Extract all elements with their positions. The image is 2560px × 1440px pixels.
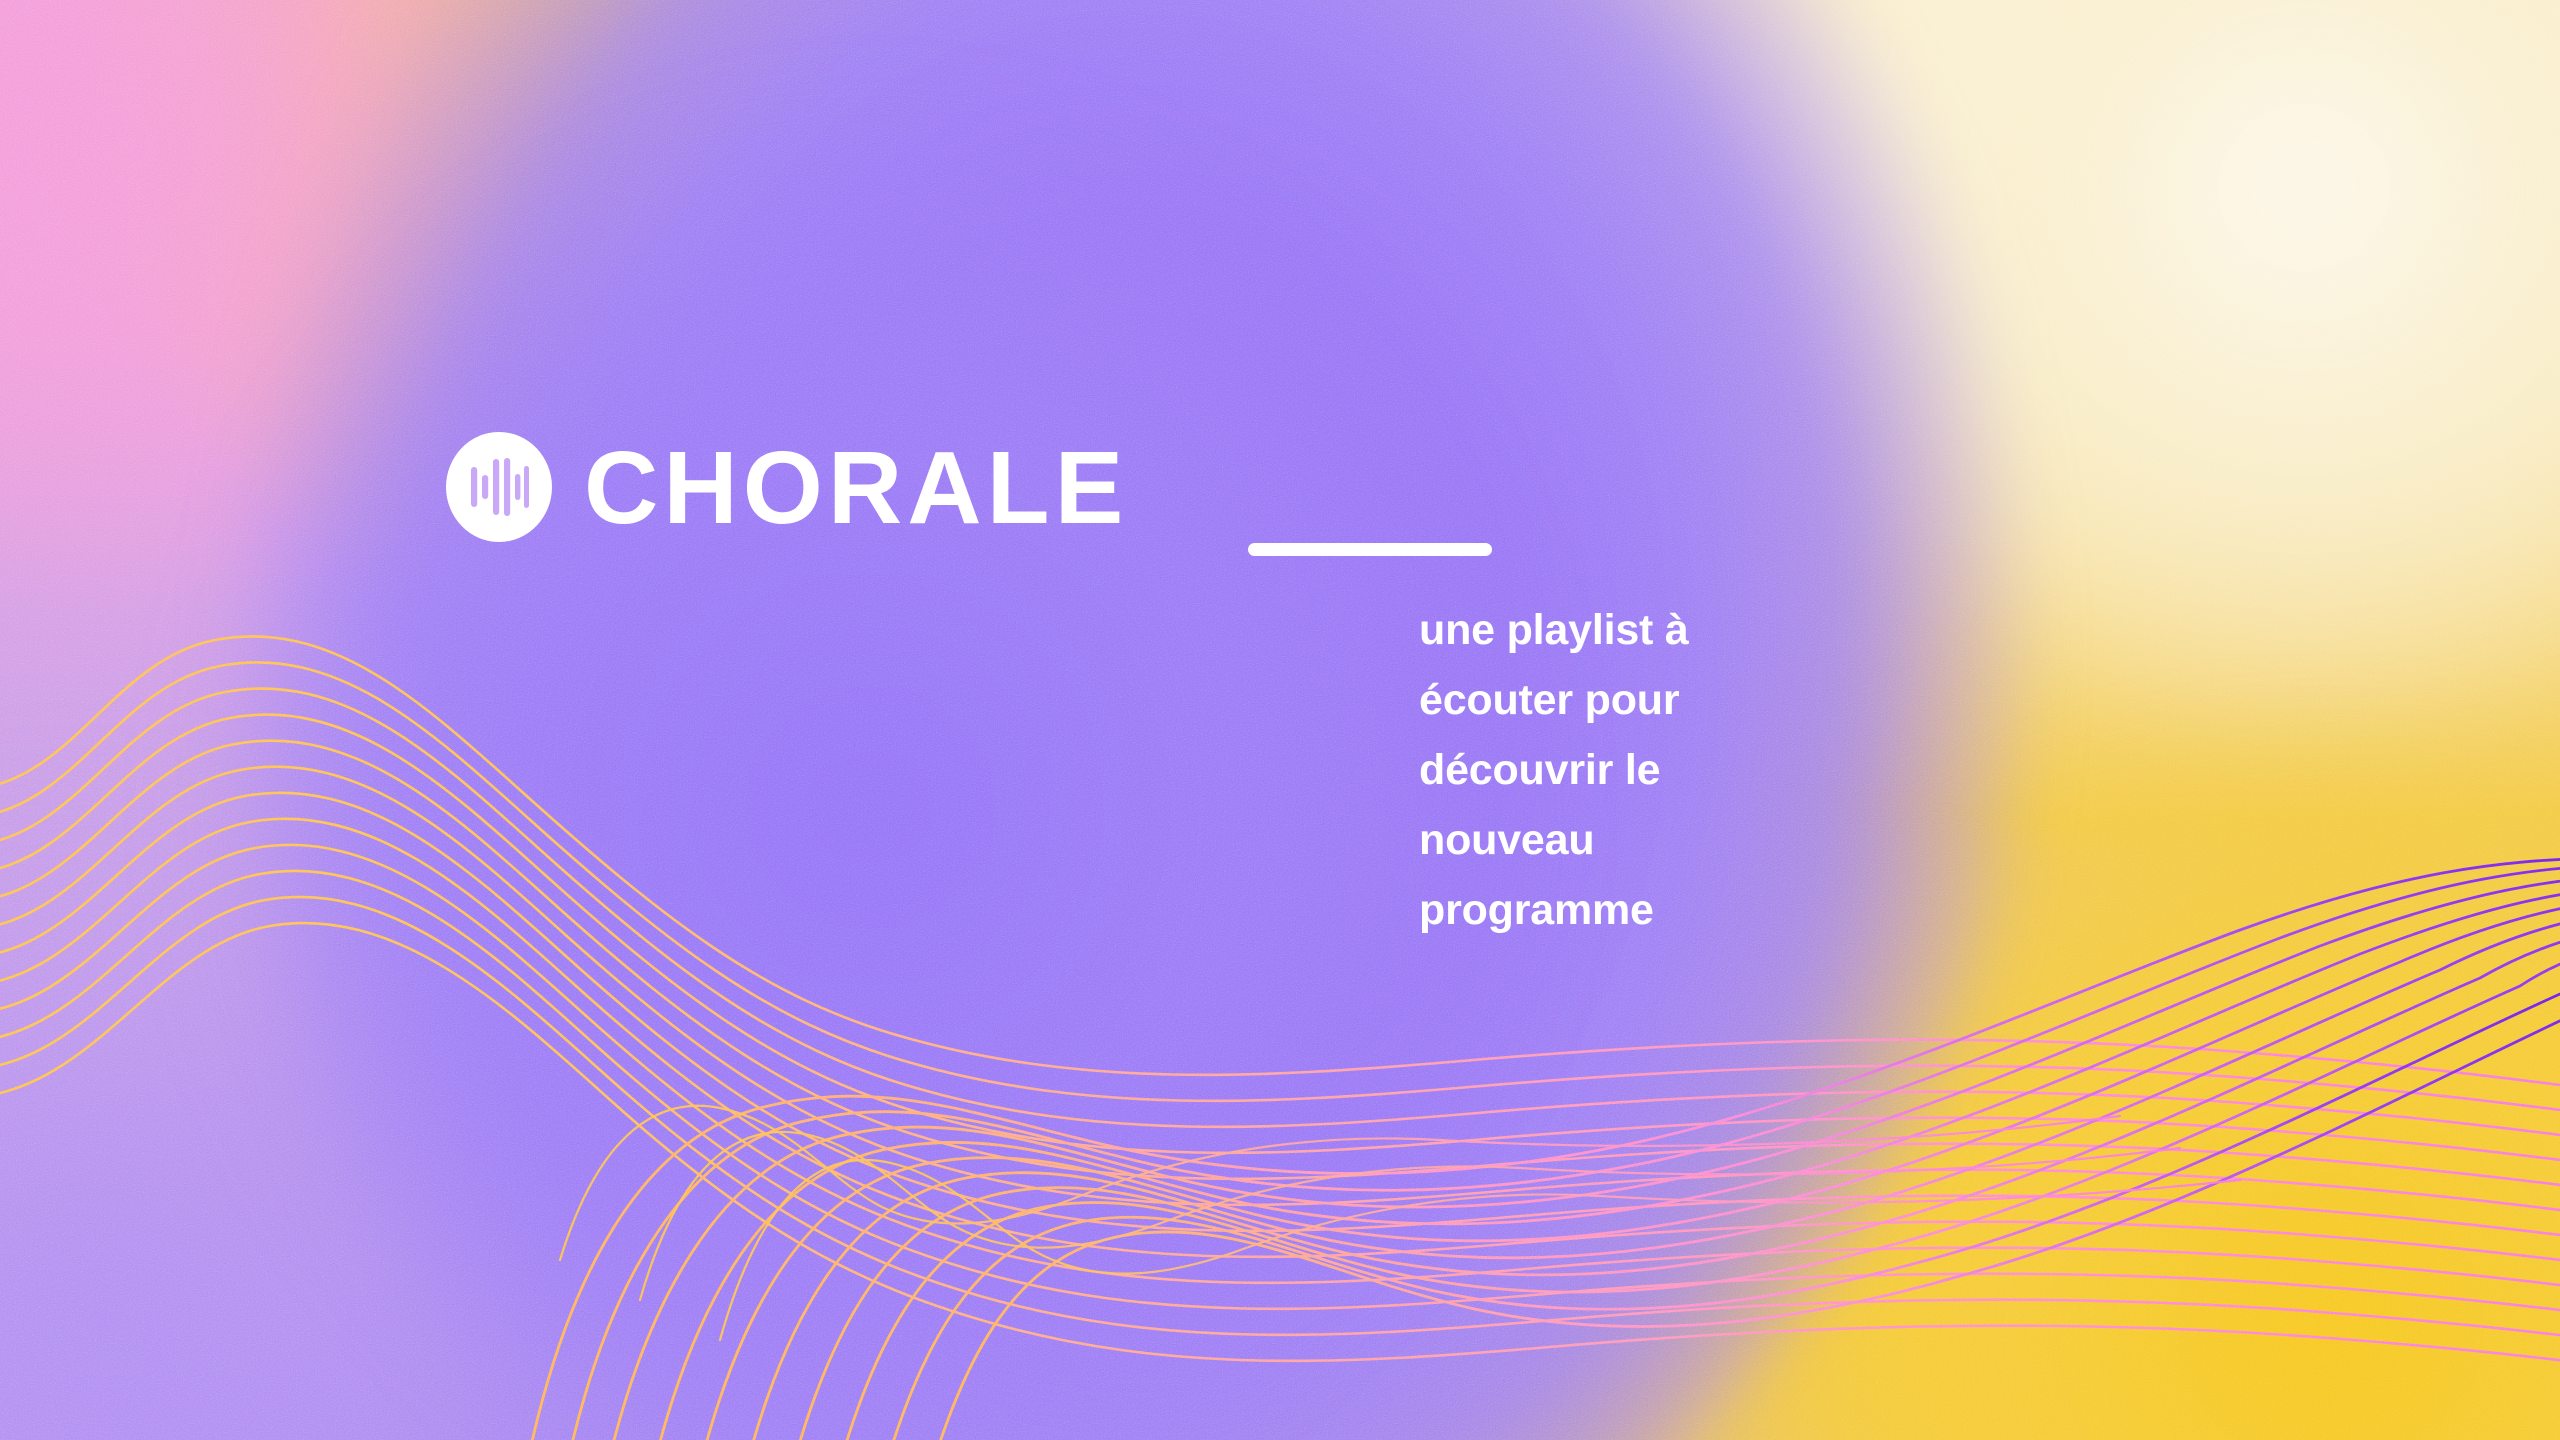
tagline-line-5: programme: [1419, 875, 1819, 945]
tagline-line-3: découvrir le: [1419, 735, 1819, 805]
wordmark-underline-accent: [1248, 543, 1492, 556]
tagline-line-2: écouter pour: [1419, 665, 1819, 735]
tagline-line-4: nouveau: [1419, 805, 1819, 875]
poster-canvas: CHORALE une playlist à écouter pour déco…: [0, 0, 2560, 1440]
tagline-text: une playlist à écouter pour découvrir le…: [1419, 595, 1819, 945]
brand-lockup: CHORALE: [446, 432, 1128, 542]
poster-content: CHORALE une playlist à écouter pour déco…: [0, 0, 2560, 1440]
tagline-line-1: une playlist à: [1419, 595, 1819, 665]
wordmark-chorale: CHORALE: [584, 436, 1128, 539]
audio-waveform-icon: [446, 432, 552, 542]
